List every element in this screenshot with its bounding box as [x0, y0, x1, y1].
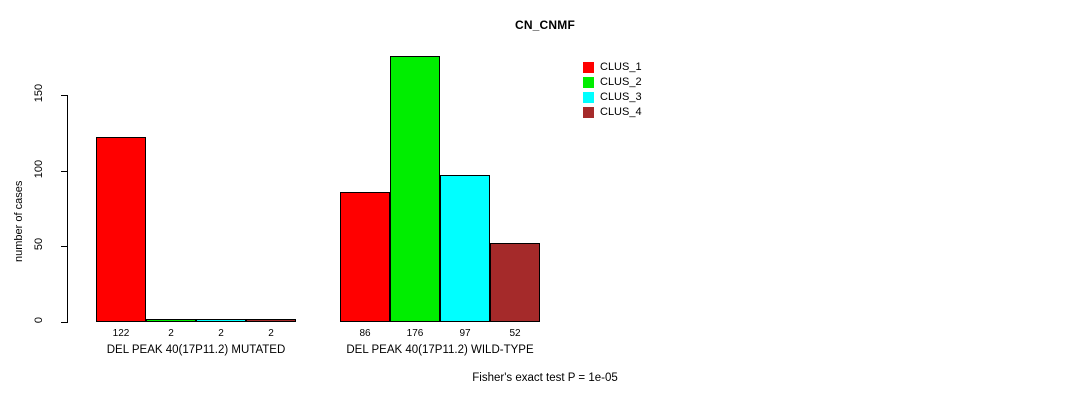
- y-axis-tick-label: 50: [33, 228, 45, 260]
- bar-clus_1: [96, 137, 146, 322]
- y-axis-tick-label: 0: [33, 304, 45, 336]
- bar-clus_1: [340, 192, 390, 322]
- x-axis-group-label: DEL PEAK 40(17P11.2) WILD-TYPE: [280, 344, 600, 356]
- legend-item: CLUS_4: [583, 105, 642, 120]
- bar-count-label: 97: [440, 328, 490, 339]
- bar-chart-figure: CN_CNMF number of cases 050100150 122222…: [0, 0, 1090, 400]
- y-axis-tick-mark: [61, 95, 68, 96]
- y-axis-tick-mark: [61, 171, 68, 172]
- y-axis-line: [67, 95, 68, 323]
- bar-count-label: 176: [390, 328, 440, 339]
- bar-count-label: 52: [490, 328, 540, 339]
- bar-clus_4: [490, 243, 540, 322]
- bar-clus_4: [246, 319, 296, 322]
- legend-swatch-icon: [583, 107, 594, 118]
- y-axis-tick-mark: [61, 322, 68, 323]
- legend: CLUS_1CLUS_2CLUS_3CLUS_4: [583, 60, 642, 120]
- legend-swatch-icon: [583, 92, 594, 103]
- legend-item-label: CLUS_1: [600, 62, 642, 73]
- y-axis-label: number of cases: [13, 181, 25, 262]
- legend-item-label: CLUS_2: [600, 77, 642, 88]
- bar-clus_2: [390, 56, 440, 322]
- legend-item-label: CLUS_4: [600, 107, 642, 118]
- legend-swatch-icon: [583, 77, 594, 88]
- legend-swatch-icon: [583, 62, 594, 73]
- legend-item: CLUS_2: [583, 75, 642, 90]
- y-axis-tick-label: 150: [33, 77, 45, 109]
- bar-count-label: 2: [246, 328, 296, 339]
- bar-clus_3: [196, 319, 246, 322]
- bar-count-label: 122: [96, 328, 146, 339]
- bar-clus_3: [440, 175, 490, 322]
- y-axis-tick-mark: [61, 246, 68, 247]
- bar-clus_2: [146, 319, 196, 322]
- bar-count-label: 86: [340, 328, 390, 339]
- legend-item-label: CLUS_3: [600, 92, 642, 103]
- legend-item: CLUS_3: [583, 90, 642, 105]
- bar-count-label: 2: [196, 328, 246, 339]
- y-axis-tick-label: 100: [33, 153, 45, 185]
- legend-item: CLUS_1: [583, 60, 642, 75]
- bar-count-label: 2: [146, 328, 196, 339]
- chart-title: CN_CNMF: [0, 18, 1090, 32]
- statistical-test-annotation: Fisher's exact test P = 1e-05: [0, 372, 1090, 384]
